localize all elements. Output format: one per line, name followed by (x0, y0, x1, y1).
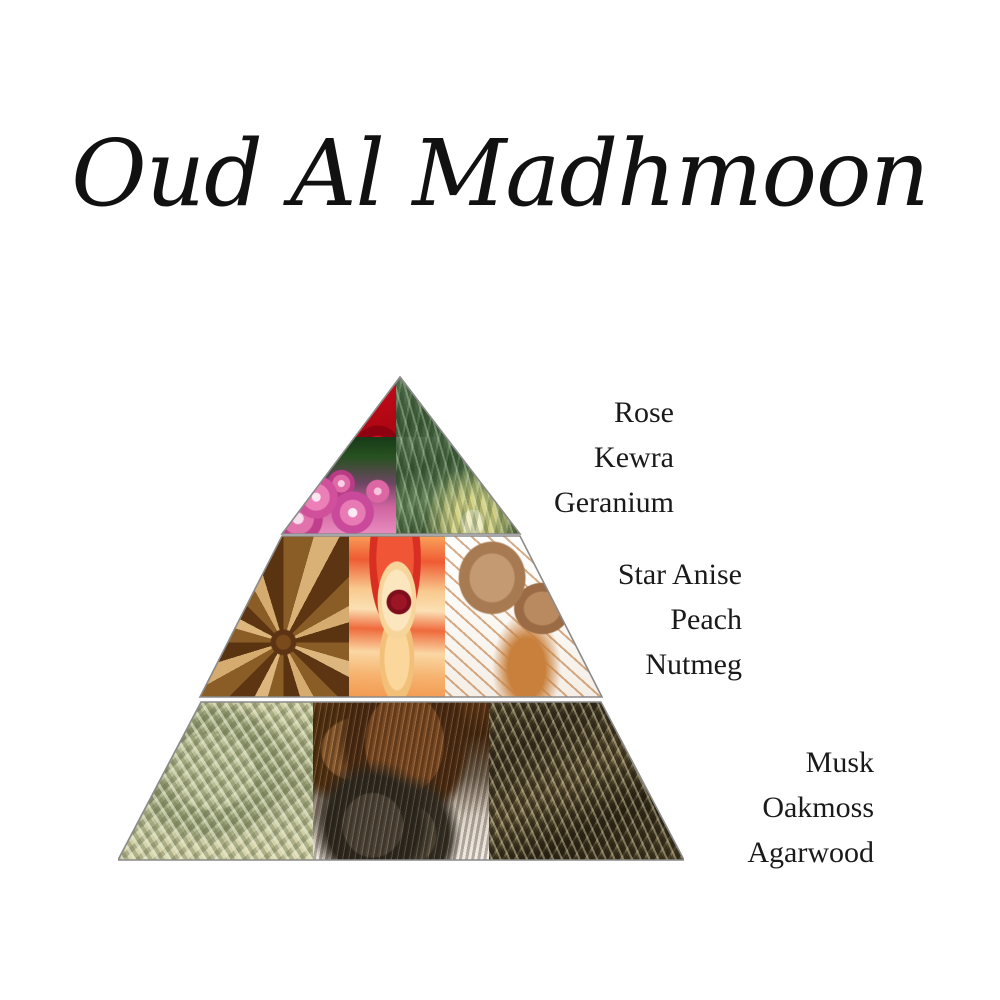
fragrance-pyramid-page: Oud Al Madhmoon (0, 0, 1000, 1000)
note-item: Nutmeg (440, 642, 742, 687)
note-item: Kewra (372, 435, 674, 480)
note-item: Peach (440, 597, 742, 642)
panel-oakmoss-image (118, 702, 313, 860)
top-notes-list: Rose Kewra Geranium (372, 390, 674, 525)
panel-star-anise-image (200, 536, 349, 697)
panel-musk-image (313, 702, 488, 860)
middle-notes-list: Star Anise Peach Nutmeg (440, 552, 742, 687)
note-item: Oakmoss (572, 785, 874, 830)
note-item: Star Anise (440, 552, 742, 597)
note-item: Rose (372, 390, 674, 435)
note-item: Agarwood (572, 830, 874, 875)
page-title: Oud Al Madhmoon (0, 128, 1000, 220)
panel-peach-image (349, 536, 445, 697)
note-item: Geranium (372, 480, 674, 525)
base-notes-list: Musk Oakmoss Agarwood (572, 740, 874, 875)
note-item: Musk (572, 740, 874, 785)
